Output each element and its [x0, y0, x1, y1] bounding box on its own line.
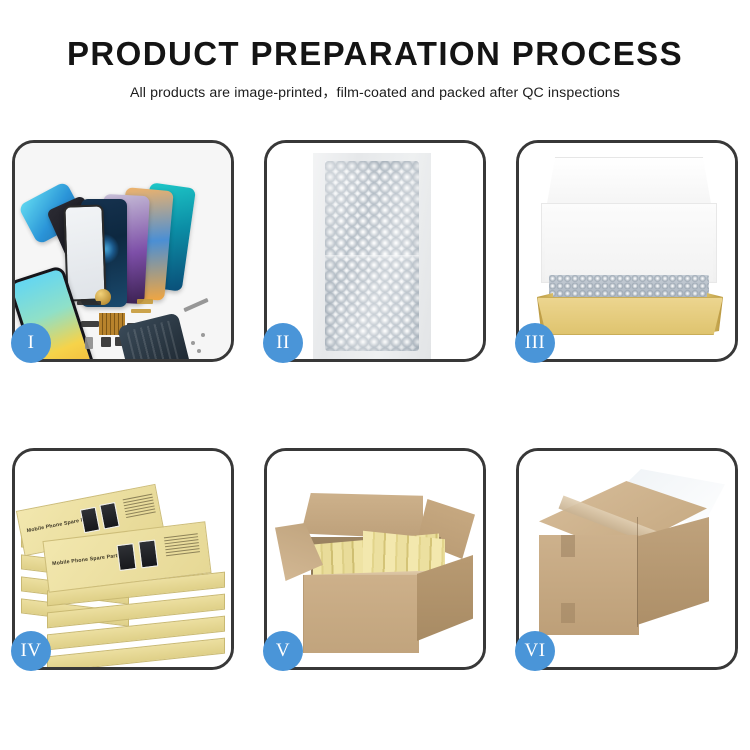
screw-part — [201, 333, 205, 337]
step-4-image: Mobile Phone Spare Parts Mobile Phone Sp… — [15, 451, 231, 667]
step-5-image — [267, 451, 483, 667]
carton-edge-seam — [637, 517, 638, 627]
box-window — [99, 502, 119, 530]
step-badge-5: V — [263, 631, 303, 671]
flex-cable-part — [131, 309, 151, 313]
step-6-image — [519, 451, 735, 667]
bubble-wrap-seam — [325, 255, 419, 261]
step-badge-6: VI — [515, 631, 555, 671]
box-spec-lines — [123, 494, 156, 520]
product-preparation-infographic: PRODUCT PREPARATION PROCESS All products… — [0, 0, 750, 750]
step-badge-2: II — [263, 323, 303, 363]
process-step-3: III — [516, 140, 738, 362]
page-subtitle: All products are image-printed，film-coat… — [0, 82, 750, 102]
inner-box-front-kraft — [537, 297, 723, 335]
carton-front-face — [303, 575, 419, 653]
box-spec-lines — [164, 533, 200, 558]
flex-cable-part — [137, 299, 153, 304]
process-step-6: VI — [516, 448, 738, 670]
inner-box-foam — [545, 209, 713, 281]
screw-part — [191, 341, 195, 345]
earpiece-mesh-part — [77, 301, 101, 305]
sealed-carton-front — [539, 535, 639, 635]
step-2-image — [267, 143, 483, 359]
step-3-image — [519, 143, 735, 359]
box-stack: Mobile Phone Spare Parts Mobile Phone Sp… — [17, 469, 231, 659]
carton-handle-tab — [561, 535, 575, 557]
step-badge-4: IV — [11, 631, 51, 671]
box-label-text: Mobile Phone Spare Parts — [52, 553, 121, 567]
tweezers-tool — [183, 298, 208, 312]
page-title: PRODUCT PREPARATION PROCESS — [0, 36, 750, 72]
step-badge-1: I — [11, 323, 51, 363]
box-window — [80, 507, 100, 534]
logic-board-part — [117, 312, 191, 359]
small-module-part — [81, 321, 99, 327]
process-step-5: V — [264, 448, 486, 670]
process-step-1: I — [12, 140, 234, 362]
camera-part — [101, 337, 111, 347]
process-step-4: Mobile Phone Spare Parts Mobile Phone Sp… — [12, 448, 234, 670]
step-1-image — [15, 143, 231, 359]
process-step-grid: I II III — [12, 140, 738, 686]
box-window — [138, 539, 158, 568]
step-badge-3: III — [515, 323, 555, 363]
box-window — [116, 543, 136, 571]
screw-part — [197, 349, 201, 353]
carton-back-flap — [301, 493, 423, 539]
process-step-2: II — [264, 140, 486, 362]
sim-tray-part — [85, 337, 93, 349]
header: PRODUCT PREPARATION PROCESS All products… — [0, 0, 750, 102]
carton-handle-tab — [561, 603, 575, 623]
